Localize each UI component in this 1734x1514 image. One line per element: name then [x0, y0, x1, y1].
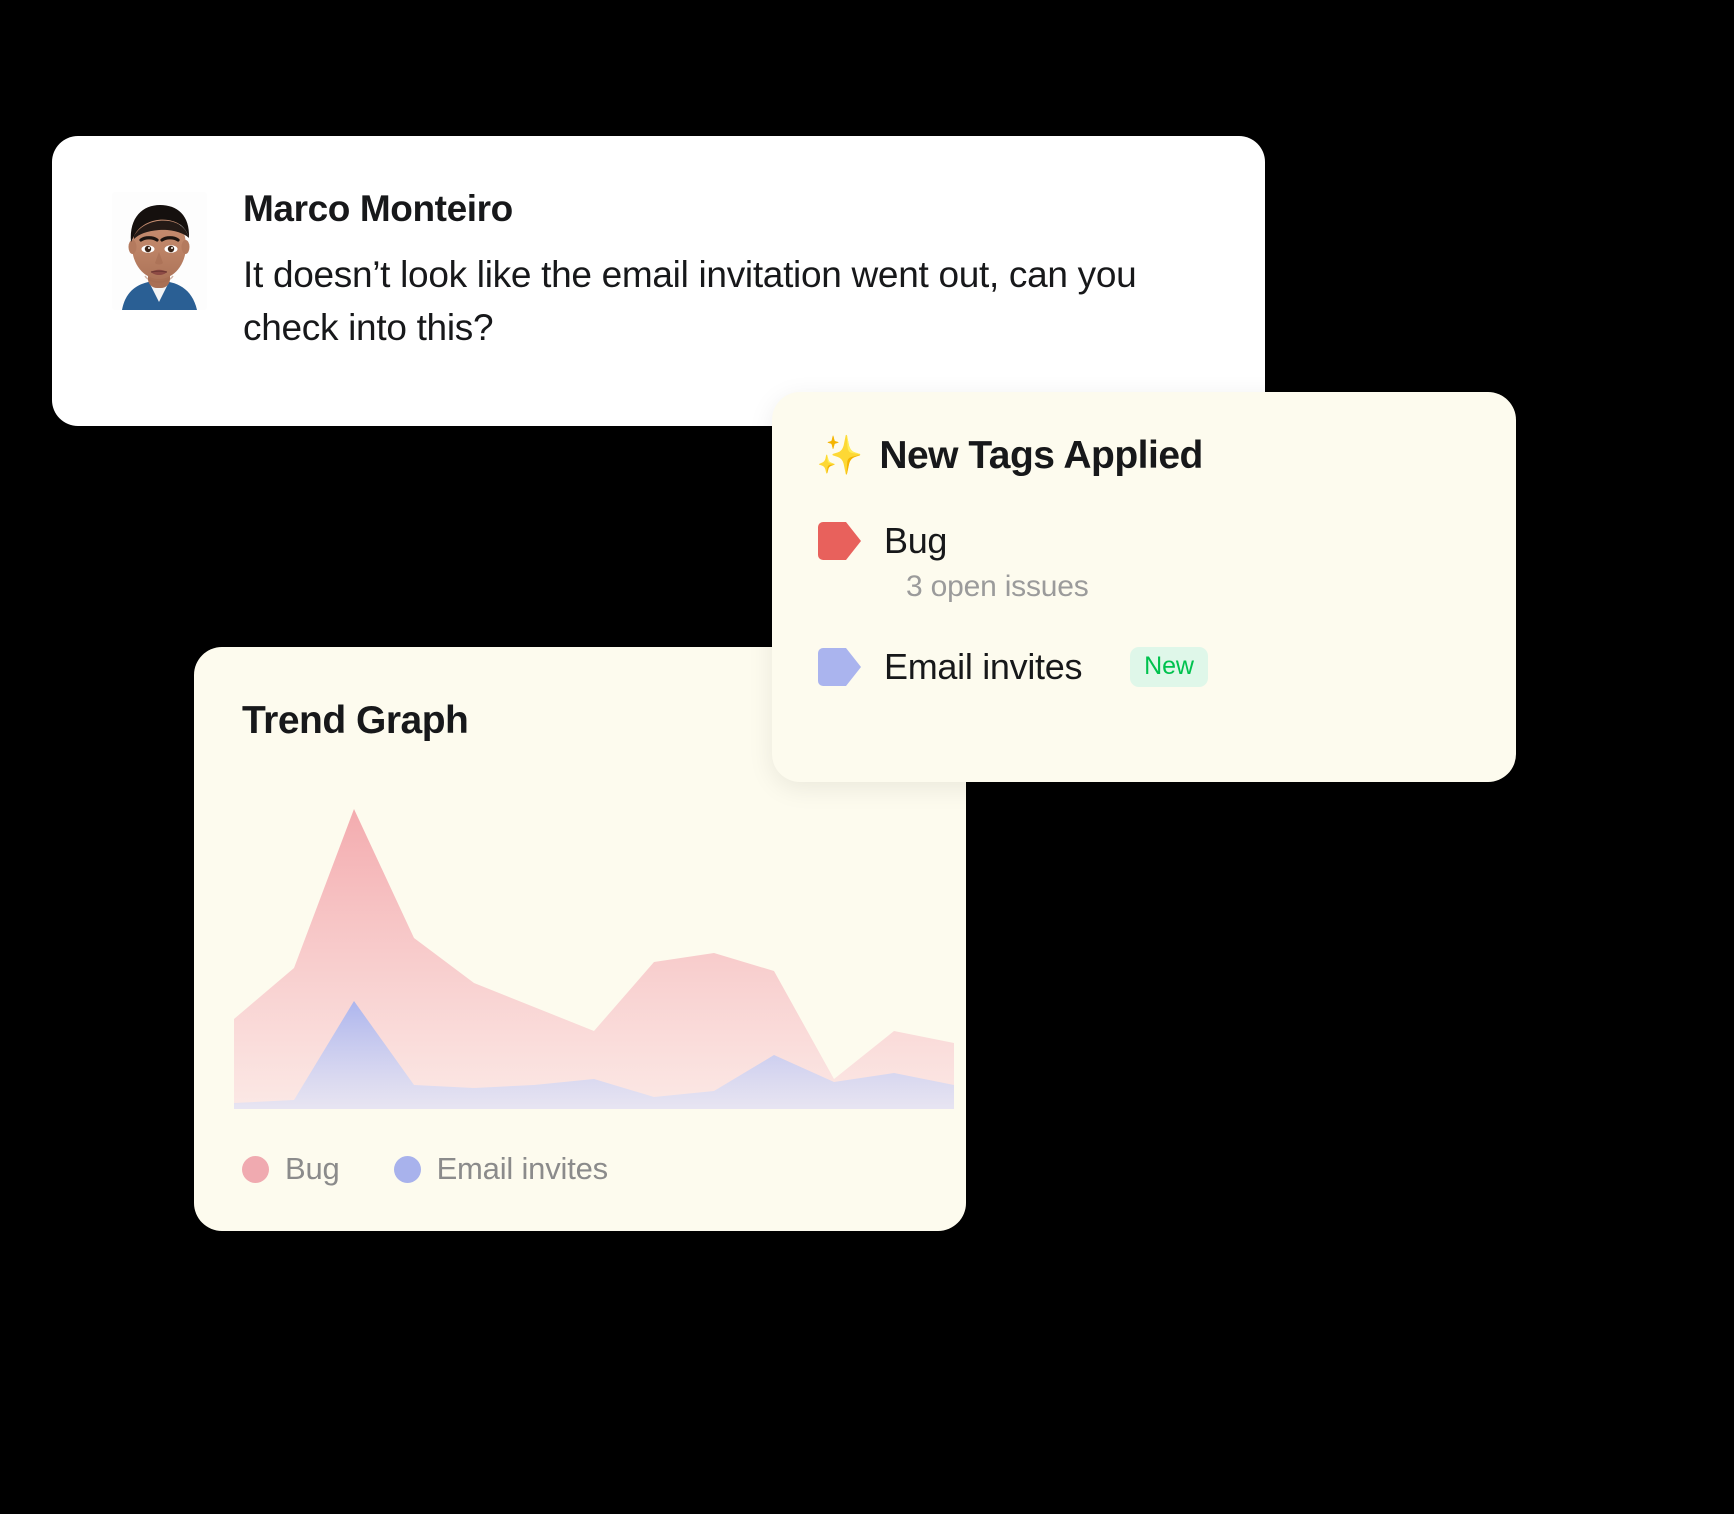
sender-name: Marco Monteiro	[243, 190, 1143, 227]
message-body: Marco Monteiro It doesn’t look like the …	[243, 188, 1143, 354]
tag-label-email-invites: Email invites	[884, 646, 1082, 688]
tag-row: Email invites New	[816, 646, 1472, 688]
chart-legend: Bug Email invites	[242, 1151, 608, 1187]
avatar	[112, 192, 207, 310]
screenshot-stage: Marco Monteiro It doesn’t look like the …	[0, 0, 1734, 1514]
tag-subtext-bug: 3 open issues	[906, 570, 1472, 604]
message-text: It doesn’t look like the email invitatio…	[243, 249, 1143, 354]
new-tags-title: New Tags Applied	[879, 434, 1203, 478]
legend-item-email-invites[interactable]: Email invites	[394, 1151, 608, 1187]
tag-label-bug: Bug	[884, 520, 947, 562]
legend-item-bug[interactable]: Bug	[242, 1151, 340, 1187]
tag-icon-bug	[816, 521, 862, 561]
tag-entry-email-invites[interactable]: Email invites New	[816, 646, 1472, 688]
new-tags-header: ✨ New Tags Applied	[816, 434, 1472, 478]
legend-label-email-invites: Email invites	[437, 1151, 608, 1187]
tag-entry-bug[interactable]: Bug 3 open issues	[816, 520, 1472, 604]
message-card: Marco Monteiro It doesn’t look like the …	[52, 136, 1265, 426]
tag-row: Bug	[816, 520, 1472, 562]
legend-dot-email-invites	[394, 1156, 421, 1183]
tag-icon-email-invites	[816, 647, 862, 687]
new-badge: New	[1130, 647, 1208, 687]
sparkles-icon: ✨	[816, 437, 863, 475]
legend-dot-bug	[242, 1156, 269, 1183]
trend-chart	[234, 809, 954, 1109]
legend-label-bug: Bug	[285, 1151, 340, 1187]
new-tags-card: ✨ New Tags Applied Bug 3 open issues Ema…	[772, 392, 1516, 782]
